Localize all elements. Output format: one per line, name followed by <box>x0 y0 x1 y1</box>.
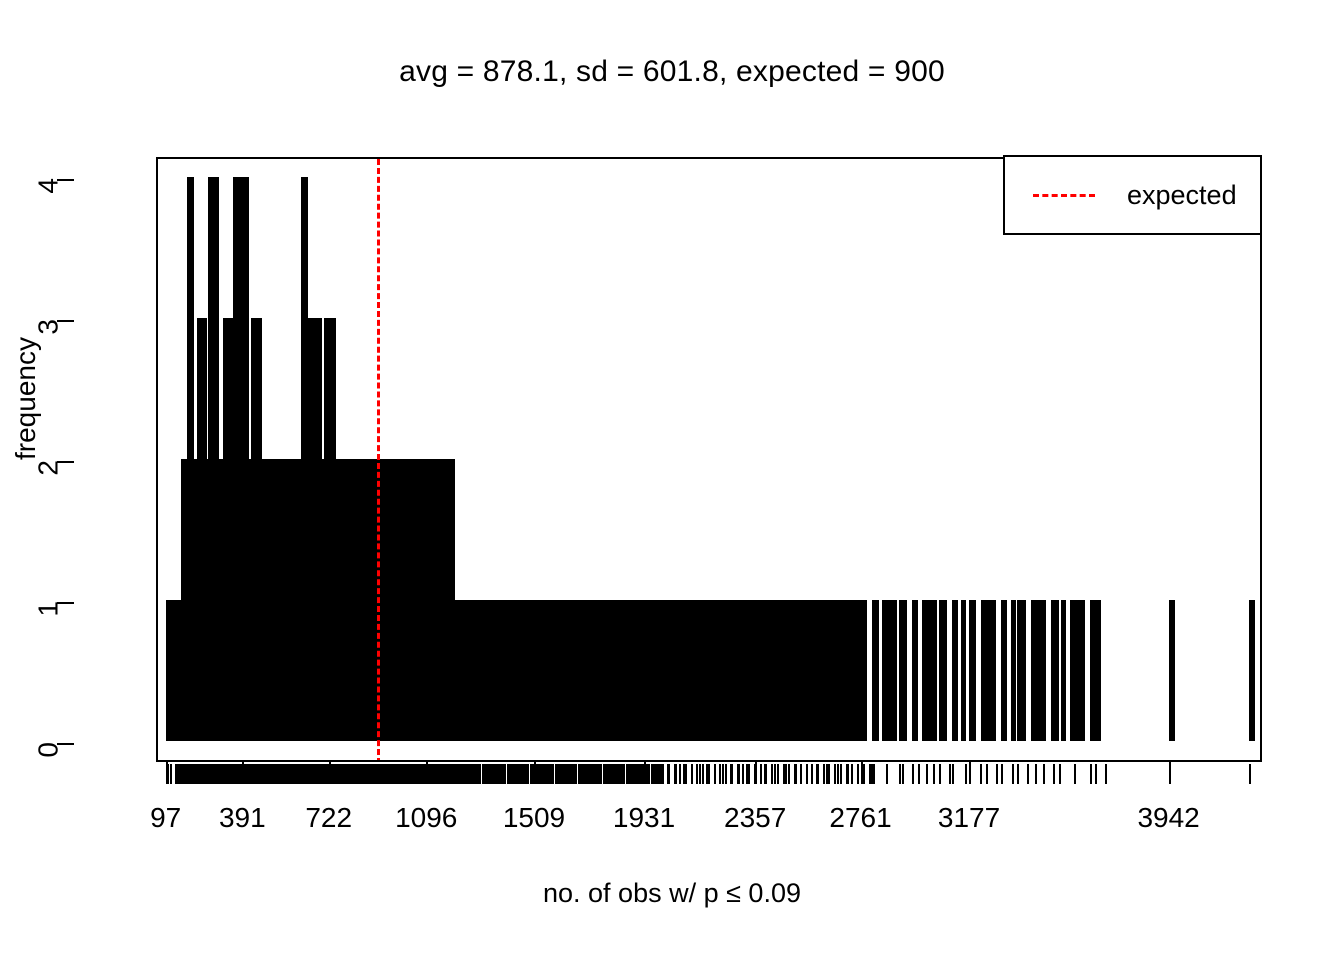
x-axis-tick-label: 1509 <box>503 802 565 834</box>
x-axis-tick-label: 2357 <box>724 802 786 834</box>
histogram-bar <box>1080 600 1085 741</box>
histogram-bar <box>1031 600 1036 741</box>
histogram-bar <box>902 600 907 741</box>
x-axis-tick-label: 3177 <box>938 802 1000 834</box>
histogram-bar <box>961 600 966 741</box>
y-axis-tick-label: 3 <box>33 319 65 335</box>
expected-vline <box>377 159 380 762</box>
histogram-bar <box>1061 600 1066 741</box>
x-axis-tick <box>755 762 757 779</box>
histogram-bar <box>1169 600 1175 741</box>
chart-title: avg = 878.1, sd = 601.8, expected = 900 <box>0 55 1344 89</box>
x-axis-tick-label: 391 <box>219 802 266 834</box>
y-axis-title: frequency <box>10 337 42 460</box>
histogram-bar <box>952 600 957 741</box>
histogram-bars <box>158 159 1260 760</box>
histogram-bar <box>872 600 877 741</box>
x-axis-tick <box>329 762 331 779</box>
histogram-bar <box>862 600 867 741</box>
histogram-bar <box>1090 600 1095 741</box>
y-axis-tick-label: 1 <box>33 601 65 617</box>
x-axis-tick <box>969 762 971 779</box>
x-axis-tick <box>1169 762 1171 779</box>
legend: expected <box>1003 155 1262 235</box>
legend-dashed-line-icon <box>1033 194 1095 197</box>
histogram-bar <box>981 600 986 741</box>
histogram-bar <box>450 459 455 741</box>
histogram-bar <box>991 600 996 741</box>
x-axis-tick <box>534 762 536 779</box>
histogram-bar <box>1041 600 1046 741</box>
histogram-bar <box>922 600 927 741</box>
plot-area <box>156 157 1262 762</box>
histogram-bar <box>1051 600 1056 741</box>
legend-entry: expected <box>1005 157 1260 233</box>
y-axis-tick-label: 4 <box>33 178 65 194</box>
histogram-bar <box>1249 600 1255 741</box>
histogram-bar <box>912 600 917 741</box>
x-axis-tick-label: 3942 <box>1137 802 1199 834</box>
x-axis-tick-label: 97 <box>150 802 181 834</box>
x-axis-tick <box>861 762 863 779</box>
x-axis-tick-label: 2761 <box>829 802 891 834</box>
x-axis-title: no. of obs w/ p ≤ 0.09 <box>0 878 1344 909</box>
y-axis-tick-label: 0 <box>33 742 65 758</box>
histogram-bar <box>942 600 947 741</box>
histogram-bar <box>892 600 897 741</box>
x-axis: 973917221096150919312357276131773942 <box>156 762 1262 822</box>
x-axis-tick <box>166 762 168 779</box>
x-axis-tick <box>426 762 428 779</box>
x-axis-tick <box>242 762 244 779</box>
histogram-bar <box>1095 600 1101 741</box>
histogram-bar <box>1011 600 1016 741</box>
x-axis-tick-label: 1096 <box>395 802 457 834</box>
histogram-bar <box>882 600 887 741</box>
histogram-bar <box>1001 600 1006 741</box>
histogram-bar <box>971 600 976 741</box>
histogram-bar <box>932 600 937 741</box>
x-axis-tick <box>644 762 646 779</box>
y-axis-tick-label: 2 <box>33 460 65 476</box>
chart-figure: avg = 878.1, sd = 601.8, expected = 900 … <box>0 0 1344 960</box>
legend-entry-label: expected <box>1127 180 1237 211</box>
histogram-bar <box>1021 600 1026 741</box>
histogram-bar <box>1070 600 1075 741</box>
x-axis-tick-label: 722 <box>305 802 352 834</box>
y-axis: 01234 <box>0 0 156 960</box>
x-axis-tick-label: 1931 <box>613 802 675 834</box>
